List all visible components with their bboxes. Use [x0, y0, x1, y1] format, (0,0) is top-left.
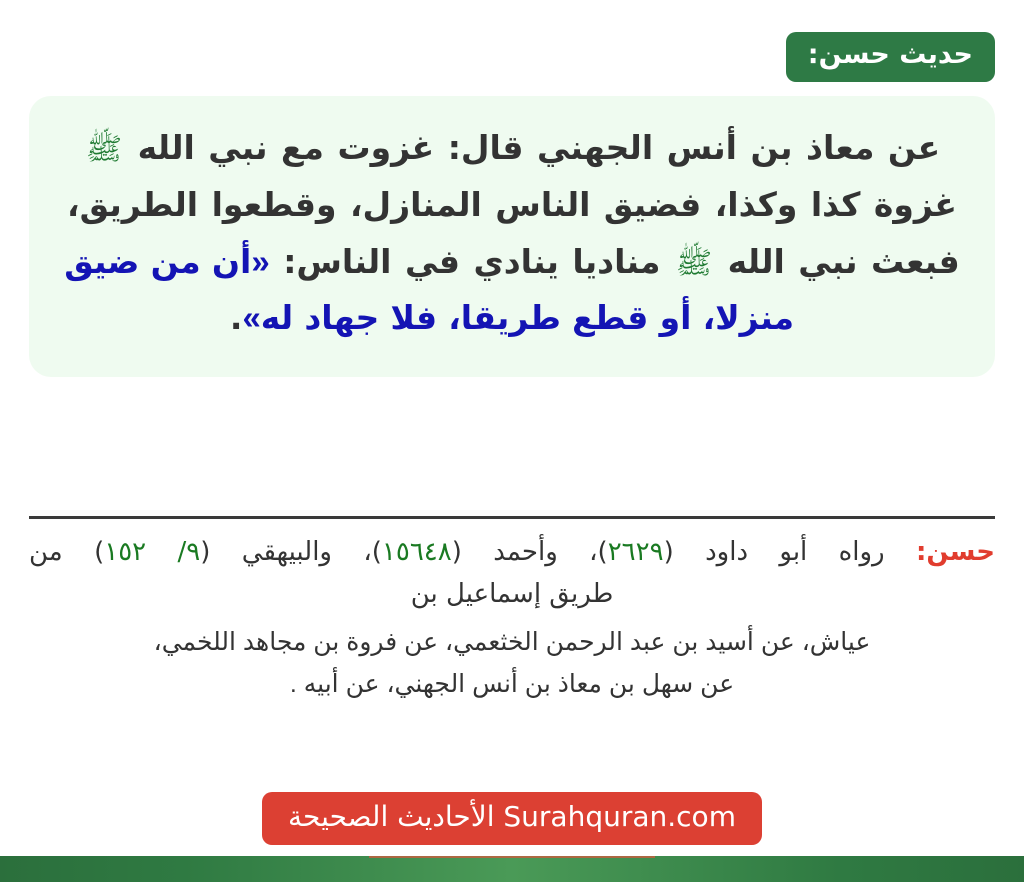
attribution-source-4: ) من	[29, 537, 104, 567]
hadith-narration-end: .	[230, 298, 243, 337]
grade-label: حسن:	[916, 537, 995, 567]
brand-banner[interactable]: Surahquran.com الأحاديث الصحيحة	[262, 792, 762, 845]
reference-number-bayhaqi: ٩/ ١٥٢	[104, 537, 200, 567]
attribution-source-3: )، والبيهقي (	[200, 537, 382, 567]
attribution-source-2: )، وأحمد (	[452, 537, 608, 567]
brand-website[interactable]: Surahquran.com	[503, 800, 736, 833]
attribution-line-4: عن سهل بن معاذ بن أنس الجهني، عن أبيه .	[29, 665, 995, 704]
hadith-text: عن معاذ بن أنس الجهني قال: غزوت مع نبي ا…	[63, 120, 961, 347]
attribution-source-1: رواه أبو داود (	[664, 537, 916, 567]
hadith-narration-part-3: مناديا ينادي في الناس:	[270, 242, 674, 281]
attribution-block: حسن: رواه أبو داود (٢٦٢٩)، وأحمد (١٥٦٤٨)…	[29, 532, 995, 704]
hadith-narration-part-1: عن معاذ بن أنس الجهني قال: غزوت مع نبي ا…	[124, 128, 940, 167]
section-divider	[29, 516, 995, 519]
salla-allahu-alayhi-wasallam-icon: ﷺ	[674, 246, 714, 281]
reference-number-abu-dawud: ٢٦٢٩	[608, 537, 664, 567]
strip-accent-line	[369, 856, 656, 858]
attribution-line-2: طريق إسماعيل بن	[29, 574, 995, 614]
brand-arabic-title: الأحاديث الصحيحة	[288, 800, 494, 833]
attribution-line-1: حسن: رواه أبو داود (٢٦٢٩)، وأحمد (١٥٦٤٨)…	[29, 532, 995, 572]
hadith-body-card: عن معاذ بن أنس الجهني قال: غزوت مع نبي ا…	[29, 96, 995, 377]
bottom-green-strip	[0, 856, 1024, 882]
attribution-line-3: عياش، عن أسيد بن عبد الرحمن الخثعمي، عن …	[29, 623, 995, 662]
footer-brand-row: Surahquran.com الأحاديث الصحيحة	[0, 792, 1024, 845]
grade-badge-row: حديث حسن:	[786, 32, 995, 82]
status-badge: حديث حسن:	[786, 32, 995, 82]
reference-number-ahmad: ١٥٦٤٨	[382, 537, 452, 567]
hadith-card-page: حديث حسن: عن معاذ بن أنس الجهني قال: غزو…	[0, 0, 1024, 882]
salla-allahu-alayhi-wasallam-icon: ﷺ	[84, 132, 124, 167]
